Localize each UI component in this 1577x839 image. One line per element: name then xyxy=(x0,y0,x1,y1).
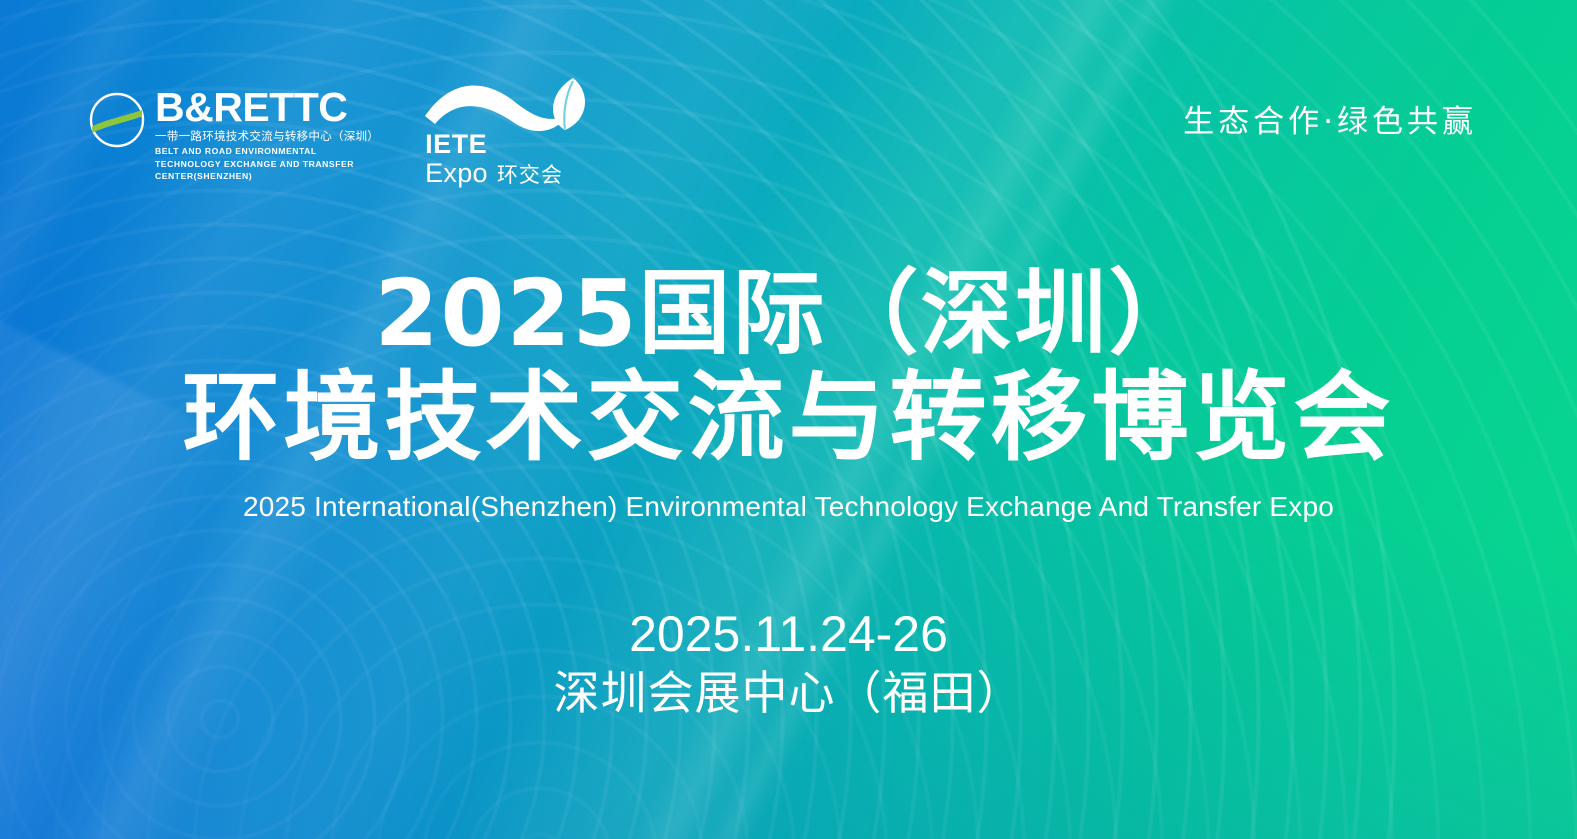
event-banner: B&RETTC 一带一路环境技术交流与转移中心（深圳） BELT AND ROA… xyxy=(0,0,1577,839)
iete-acronym: IETE xyxy=(425,130,563,158)
iete-expo-logo: IETE Expo 环交会 xyxy=(423,86,591,194)
banner-tagline: 生态合作·绿色共赢 xyxy=(1183,104,1477,140)
iete-text-block: IETE Expo 环交会 xyxy=(425,130,563,190)
brettc-text-block: B&RETTC 一带一路环境技术交流与转移中心（深圳） BELT AND ROA… xyxy=(155,86,379,182)
iete-word-cn: 环交会 xyxy=(497,160,563,190)
brettc-name-en-line1: BELT AND ROAD ENVIRONMENTAL xyxy=(155,146,379,157)
brettc-wordmark: B&RETTC xyxy=(155,86,379,128)
brettc-name-en-line2: TECHNOLOGY EXCHANGE AND TRANSFER xyxy=(155,159,379,170)
event-title-block: 2025国际（深圳） 环境技术交流与转移博览会 2025 Internation… xyxy=(0,266,1577,524)
brettc-name-en-line3: CENTER(SHENZHEN) xyxy=(155,171,379,182)
brettc-logo: B&RETTC 一带一路环境技术交流与转移中心（深圳） BELT AND ROA… xyxy=(88,86,379,182)
event-venue: 深圳会展中心（福田） xyxy=(0,664,1577,722)
iete-expo-word: Expo xyxy=(425,158,488,188)
event-title-line2: 环境技术交流与转移博览会 xyxy=(0,366,1577,470)
event-date: 2025.11.24-26 xyxy=(0,604,1577,664)
event-title-line1: 2025国际（深圳） xyxy=(0,266,1577,362)
brettc-name-cn: 一带一路环境技术交流与转移中心（深圳） xyxy=(155,129,379,144)
event-date-venue-block: 2025.11.24-26 深圳会展中心（福田） xyxy=(0,604,1577,722)
iete-subrow: Expo 环交会 xyxy=(425,158,563,190)
event-subtitle-en: 2025 International(Shenzhen) Environment… xyxy=(0,490,1577,524)
banner-header: B&RETTC 一带一路环境技术交流与转移中心（深圳） BELT AND ROA… xyxy=(0,0,1577,210)
globe-circle-green-band-icon xyxy=(88,91,146,149)
